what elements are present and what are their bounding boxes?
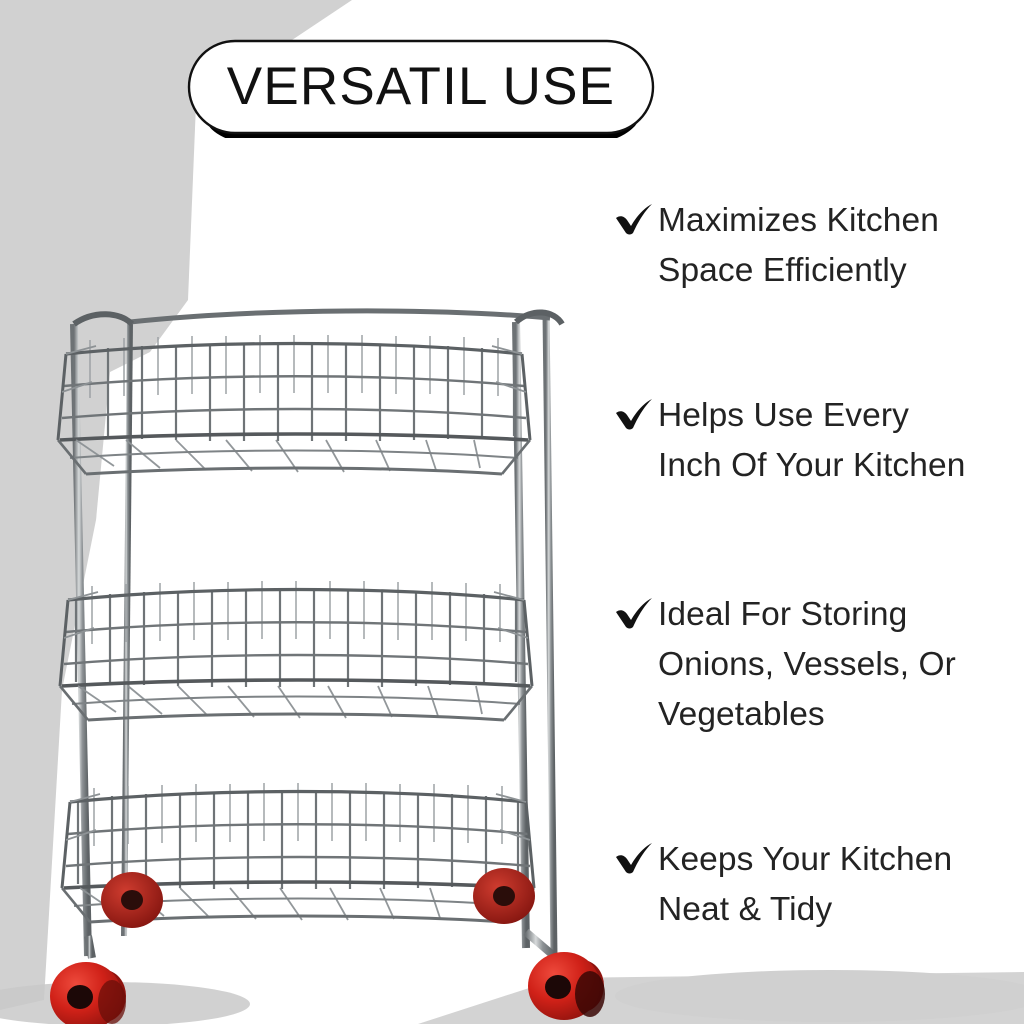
list-item: Keeps Your Kitchen Neat & Tidy <box>614 835 952 935</box>
wire-trolley-illustration <box>34 296 634 1024</box>
list-item-label: Ideal For Storing Onions, Vessels, Or Ve… <box>658 590 956 740</box>
middle-basket <box>60 581 532 720</box>
check-icon <box>614 841 658 875</box>
list-item: Maximizes Kitchen Space Efficiently <box>614 196 939 296</box>
caster-stem-left <box>88 936 92 958</box>
check-icon <box>614 202 658 236</box>
infographic-canvas: VERSATIL USE <box>0 0 1024 1024</box>
floor-shadow-right-ellipse <box>615 970 1024 1022</box>
title-pill: VERSATIL USE <box>186 38 656 138</box>
list-item: Ideal For Storing Onions, Vessels, Or Ve… <box>614 590 956 740</box>
product-image <box>34 296 634 1024</box>
caster-rear-left <box>101 872 163 928</box>
caster-rear-right <box>473 868 535 924</box>
list-item-label: Maximizes Kitchen Space Efficiently <box>658 196 939 296</box>
check-icon <box>614 596 658 630</box>
list-item-label: Helps Use Every Inch Of Your Kitchen <box>658 391 965 491</box>
caster-front-right <box>528 952 605 1020</box>
list-item-label: Keeps Your Kitchen Neat & Tidy <box>658 835 952 935</box>
caster-front-left <box>50 962 126 1024</box>
page-title: VERSATIL USE <box>186 38 656 134</box>
caster-stem-right <box>526 932 554 956</box>
list-item: Helps Use Every Inch Of Your Kitchen <box>614 391 965 491</box>
check-icon <box>614 397 658 431</box>
